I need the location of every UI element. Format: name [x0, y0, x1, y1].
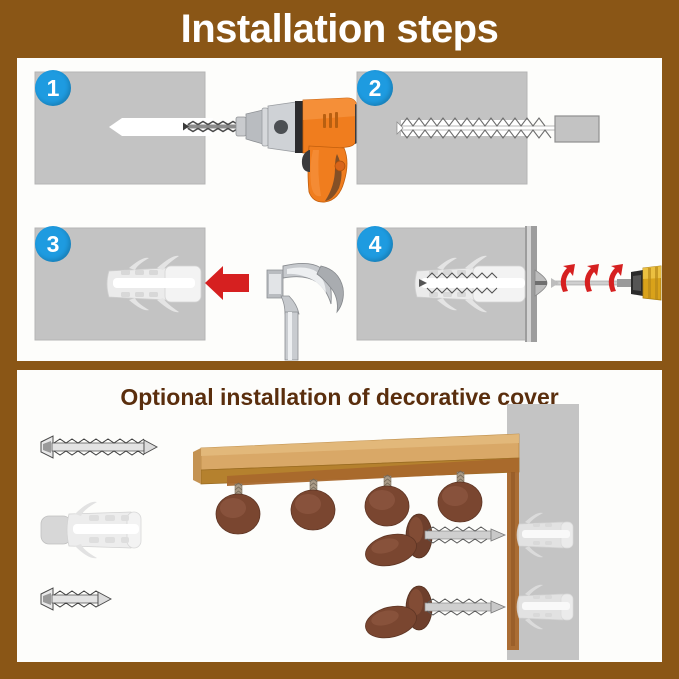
red-arrow-icon — [205, 266, 249, 300]
step-badge-1: 1 — [35, 70, 71, 106]
hammer-icon — [267, 263, 343, 360]
drill-shank-icon — [555, 116, 599, 142]
screwdriver-icon — [617, 266, 661, 300]
step-1-drill-hole: 1 — [17, 58, 339, 208]
cap-screw-assembly-icon — [362, 586, 505, 643]
parts-illustration — [27, 432, 177, 632]
step-3-insert-anchor: 3 — [17, 208, 339, 361]
step-4-drive-screw: 4 — [339, 208, 661, 361]
drill-bit-icon — [397, 118, 557, 138]
steps-panel: 1 — [17, 58, 662, 361]
short-screw-icon — [41, 588, 111, 610]
header-banner: Installation steps — [0, 0, 679, 58]
rotation-arrows-icon — [561, 264, 623, 292]
screw-head-icon — [535, 270, 547, 296]
installation-poster: Installation steps 1 — [0, 0, 679, 679]
page-title: Installation steps — [181, 9, 499, 49]
wall-anchor-icon — [41, 502, 141, 559]
step-badge-2: 2 — [357, 70, 393, 106]
drill-bit-icon — [183, 122, 239, 132]
decorative-cap-icon — [438, 471, 482, 522]
scene-illustration — [167, 410, 662, 660]
decorative-cap-icon — [216, 483, 260, 534]
step-2-clean-hole: 2 — [339, 58, 661, 208]
decorative-cap-icon — [291, 479, 335, 530]
step-badge-3: 3 — [35, 226, 71, 262]
cover-install-scene — [167, 410, 662, 660]
parts-list — [27, 432, 177, 632]
decorative-cover-panel: Optional installation of decorative cove… — [17, 370, 662, 662]
long-screw-icon — [41, 436, 157, 458]
step-badge-4: 4 — [357, 226, 393, 262]
panel-divider — [17, 361, 662, 370]
decorative-cap-icon — [365, 475, 409, 526]
